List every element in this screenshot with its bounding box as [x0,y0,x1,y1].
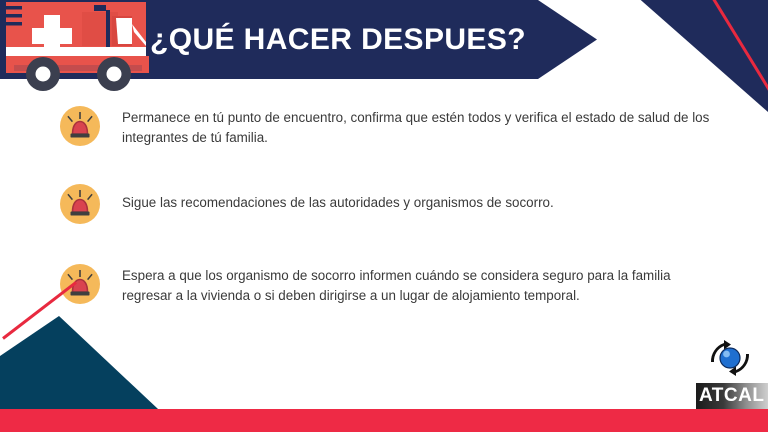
list-item: Sigue las recomendaciones de las autorid… [0,182,768,224]
siren-icon [60,184,100,224]
sphere-refresh-icon [704,337,756,379]
list-item-text: Sigue las recomendaciones de las autorid… [122,182,724,213]
list-item: Permanece en tú punto de encuentro, conf… [0,104,768,148]
navy-bottom-triangle [0,316,158,409]
page-title: ¿QUÉ HACER DESPUES? [150,0,570,79]
siren-icon [60,264,100,304]
red-bottom-bar [0,409,768,432]
list-item: Espera a que los organismo de socorro in… [0,262,768,306]
navy-corner-triangle [578,0,768,112]
list-item-text: Permanece en tú punto de encuentro, conf… [122,104,724,148]
siren-icon [60,106,100,146]
ambulance-illustration [6,2,161,96]
slide-canvas: ¿QUÉ HACER DESPUES? [0,0,768,432]
logo-wordmark: ATCAL [696,383,768,409]
logo: ATCAL [696,337,768,409]
list-item-text: Espera a que los organismo de socorro in… [122,262,724,306]
